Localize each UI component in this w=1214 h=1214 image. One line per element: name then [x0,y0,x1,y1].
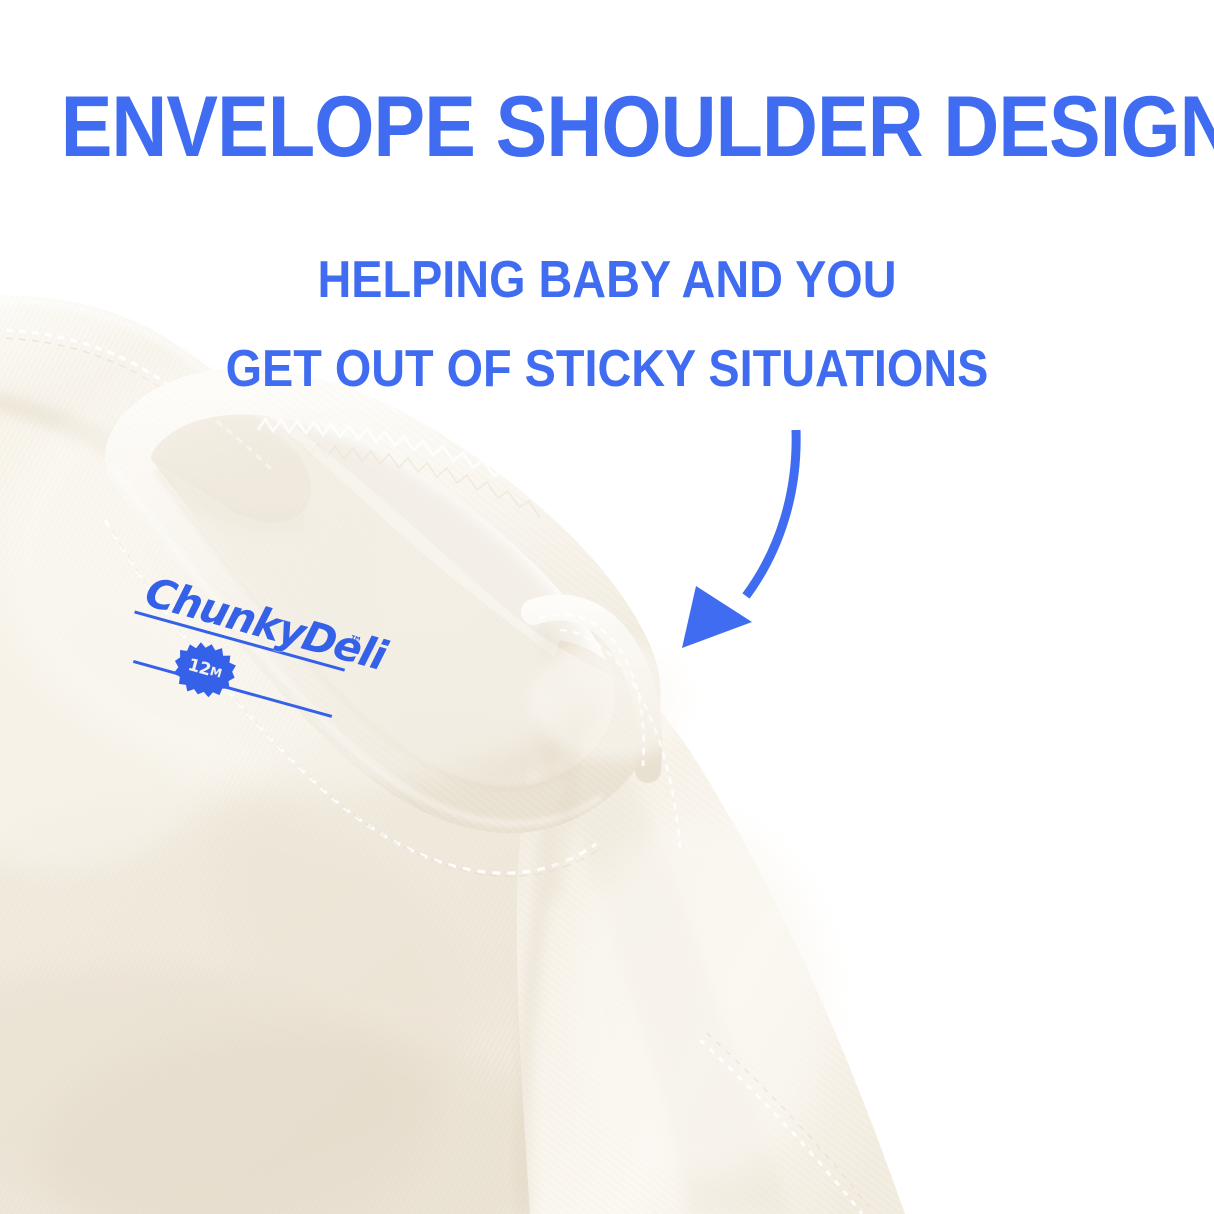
page-title: ENVELOPE SHOULDER DESIGN [61,82,1154,172]
subtitle-block: HELPING BABY AND YOU GET OUT OF STICKY S… [61,236,1154,414]
size-badge-text: 12M [168,636,242,703]
subtitle-line-2: GET OUT OF STICKY SITUATIONS [61,325,1154,414]
subtitle-line-1: HELPING BABY AND YOU [61,236,1154,325]
size-badge-unit: M [208,664,223,681]
curved-arrow-down-left-icon [640,400,860,680]
product-feature-graphic: ENVELOPE SHOULDER DESIGN HELPING BABY AN… [0,0,1214,1214]
